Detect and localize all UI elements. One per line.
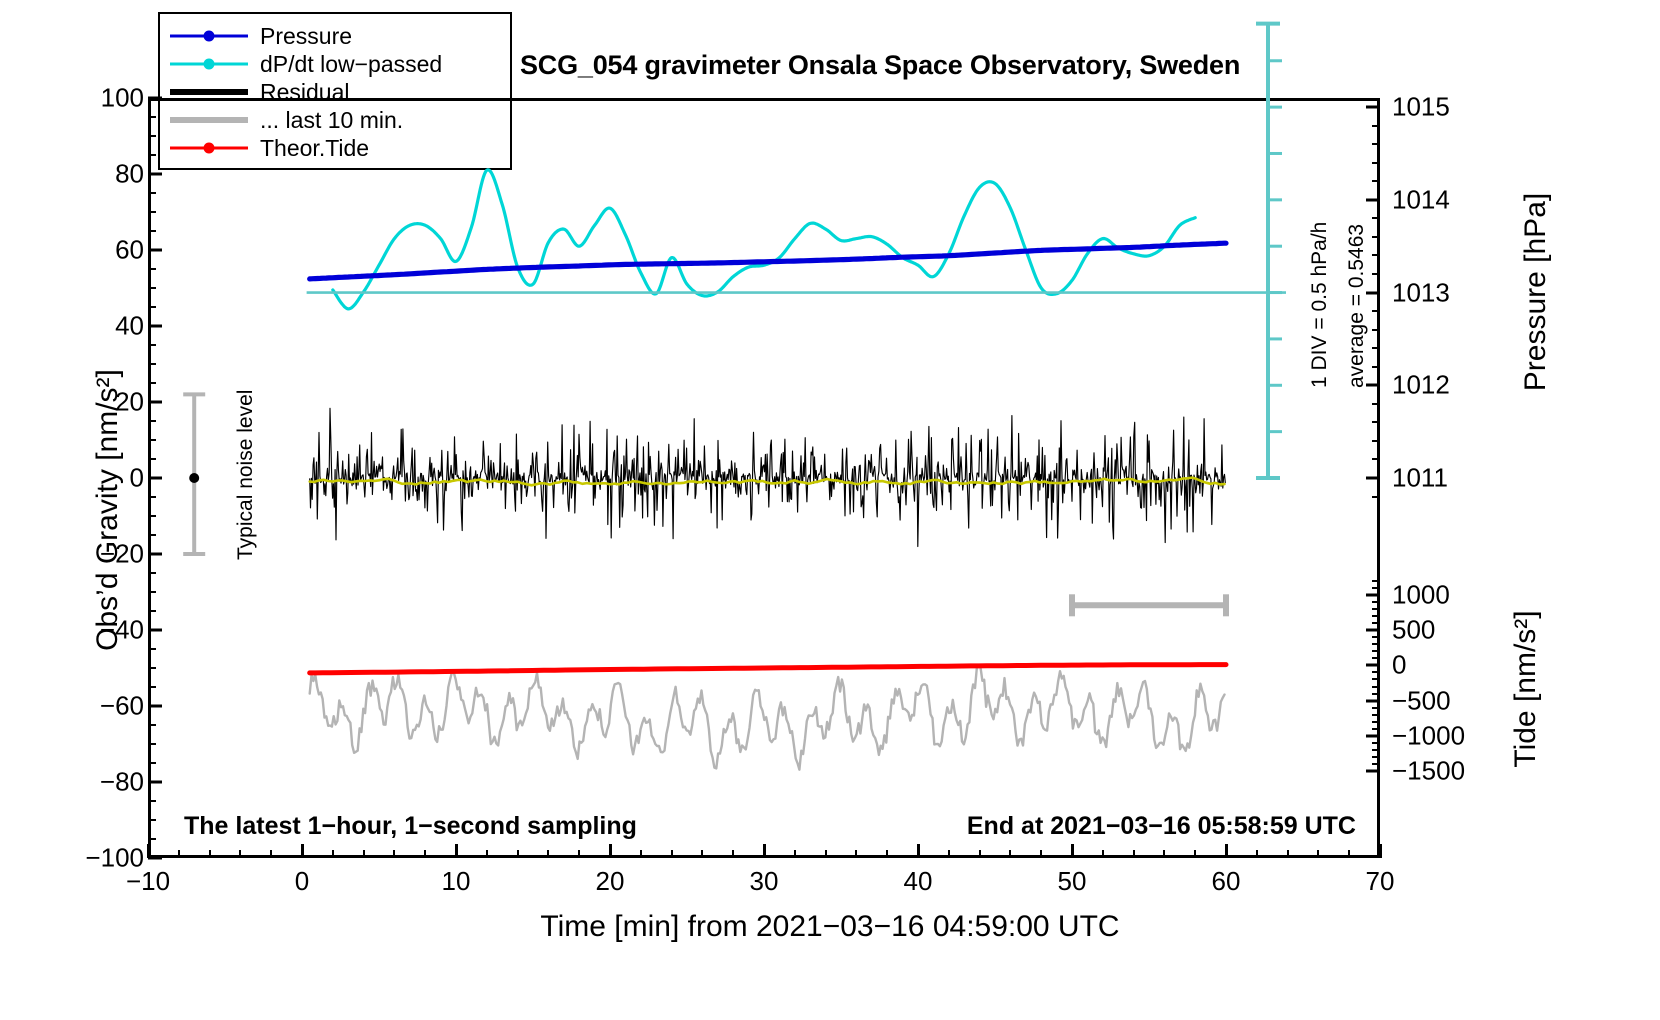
y-tick-tide-minor	[1372, 721, 1380, 723]
y-tick-left-minor	[148, 686, 156, 688]
y-tick-left	[148, 97, 162, 100]
y-tick-label-left: 60	[24, 235, 144, 266]
x-tick	[455, 844, 458, 858]
y-tick-label-left: −80	[24, 767, 144, 798]
y-tick-label-pressure: 1014	[1392, 184, 1450, 215]
y-tick-tide-minor	[1372, 742, 1380, 744]
x-tick-minor	[1163, 850, 1165, 858]
y-tick-label-tide: 0	[1392, 650, 1406, 681]
y-tick-tide-minor	[1372, 693, 1380, 695]
y-tick-pressure-minor	[1372, 180, 1380, 182]
x-tick-minor	[393, 850, 395, 858]
y-tick-left	[148, 781, 162, 784]
y-tick-left-minor	[148, 154, 156, 156]
x-tick-minor	[671, 850, 673, 858]
x-tick-label: 20	[596, 866, 625, 897]
y-tick-left-minor	[148, 344, 156, 346]
x-tick-label: 60	[1212, 866, 1241, 897]
x-tick	[1071, 844, 1074, 858]
y-tick-left	[148, 857, 162, 860]
y-tick-tide-minor	[1372, 707, 1380, 709]
y-tick-left	[148, 401, 162, 404]
x-tick-minor	[1348, 850, 1350, 858]
x-tick	[763, 844, 766, 858]
y-tick-pressure-minor	[1372, 366, 1380, 368]
y-tick-label-left: 40	[24, 311, 144, 342]
y-tick-left-minor	[148, 287, 156, 289]
y-tick-tide-minor	[1372, 678, 1380, 680]
y-tick-tide-minor	[1372, 749, 1380, 751]
y-tick-label-left: 20	[24, 387, 144, 418]
y-tick-pressure-minor	[1372, 143, 1380, 145]
y-tick-tide-minor	[1372, 657, 1380, 659]
y-tick-left-minor	[148, 591, 156, 593]
x-tick-minor	[1256, 850, 1258, 858]
x-tick-minor	[209, 850, 211, 858]
x-tick	[301, 844, 304, 858]
y-tick-label-left: −20	[24, 539, 144, 570]
y-tick-left	[148, 477, 162, 480]
x-tick-minor	[886, 850, 888, 858]
y-tick-left-minor	[148, 420, 156, 422]
x-tick-minor	[517, 850, 519, 858]
y-tick-left-minor	[148, 819, 156, 821]
x-tick-minor	[1317, 850, 1319, 858]
y-tick-pressure-minor	[1372, 329, 1380, 331]
x-tick-minor	[948, 850, 950, 858]
y-tick-tide-minor	[1372, 728, 1380, 730]
x-tick-minor	[270, 850, 272, 858]
y-tick-pressure-minor	[1372, 273, 1380, 275]
y-tick-left	[148, 553, 162, 556]
y-tick-pressure	[1366, 291, 1380, 294]
x-tick-minor	[1009, 850, 1011, 858]
bottom-right-note: End at 2021−03−16 05:58:59 UTC	[0, 812, 1356, 841]
y-tick-tide-minor	[1372, 756, 1380, 758]
y-tick-left-minor	[148, 211, 156, 213]
x-tick-label: 70	[1366, 866, 1395, 897]
x-tick-minor	[239, 850, 241, 858]
y-tick-left-minor	[148, 743, 156, 745]
y-tick-left-minor	[148, 306, 156, 308]
x-tick-minor	[332, 850, 334, 858]
y-tick-left-minor	[148, 838, 156, 840]
curve-theor-tide	[310, 665, 1226, 673]
y-tick-label-left: 80	[24, 159, 144, 190]
y-tick-pressure-minor	[1372, 125, 1380, 127]
x-tick-minor	[640, 850, 642, 858]
y-tick-label-tide: 500	[1392, 615, 1435, 646]
last-10-min-extent-bar	[1072, 594, 1226, 616]
x-tick-minor	[1133, 850, 1135, 858]
x-tick-label: 50	[1058, 866, 1087, 897]
y-tick-pressure-minor	[1372, 347, 1380, 349]
y-tick-pressure-minor	[1372, 254, 1380, 256]
y-tick-tide	[1366, 593, 1380, 596]
x-tick-minor	[424, 850, 426, 858]
x-tick	[609, 844, 612, 858]
y-tick-label-pressure: 1013	[1392, 277, 1450, 308]
y-tick-tide-minor	[1372, 714, 1380, 716]
y-tick-pressure-minor	[1372, 310, 1380, 312]
y-tick-left-minor	[148, 724, 156, 726]
y-tick-pressure	[1366, 477, 1380, 480]
y-tick-left	[148, 629, 162, 632]
x-tick-label: 0	[295, 866, 309, 897]
gravimeter-plot: SCG_054 gravimeter Onsala Space Observat…	[0, 0, 1660, 1020]
x-tick-minor	[979, 850, 981, 858]
x-tick-minor	[1194, 850, 1196, 858]
y-tick-left-minor	[148, 534, 156, 536]
x-tick-minor	[1040, 850, 1042, 858]
x-tick-label: 40	[904, 866, 933, 897]
y-tick-left-minor	[148, 610, 156, 612]
x-tick-label: −10	[126, 866, 170, 897]
y-tick-tide	[1366, 699, 1380, 702]
y-tick-label-pressure: 1015	[1392, 92, 1450, 123]
y-tick-tide-minor	[1372, 601, 1380, 603]
curve-residual	[310, 408, 1226, 546]
typical-noise-level-errorbar	[183, 394, 205, 554]
y-tick-pressure	[1366, 106, 1380, 109]
y-tick-left-minor	[148, 363, 156, 365]
y-tick-left	[148, 173, 162, 176]
x-tick-minor	[1287, 850, 1289, 858]
y-tick-left-minor	[148, 268, 156, 270]
y-tick-left-minor	[148, 116, 156, 118]
y-tick-tide-minor	[1372, 686, 1380, 688]
y-tick-tide	[1366, 629, 1380, 632]
y-tick-tide-minor	[1372, 580, 1380, 582]
y-tick-tide-minor	[1372, 763, 1380, 765]
y-tick-tide-minor	[1372, 671, 1380, 673]
y-tick-left-minor	[148, 135, 156, 137]
y-tick-pressure-minor	[1372, 162, 1380, 164]
y-tick-label-pressure: 1011	[1392, 463, 1448, 494]
y-tick-tide-minor	[1372, 608, 1380, 610]
y-tick-left-minor	[148, 648, 156, 650]
y-tick-tide-minor	[1372, 643, 1380, 645]
y-tick-tide	[1366, 664, 1380, 667]
x-tick-minor	[701, 850, 703, 858]
y-tick-tide	[1366, 770, 1380, 773]
y-tick-left-minor	[148, 496, 156, 498]
y-tick-pressure-minor	[1372, 236, 1380, 238]
y-tick-left-minor	[148, 800, 156, 802]
y-tick-pressure-minor	[1372, 403, 1380, 405]
x-tick-label: 30	[750, 866, 779, 897]
y-tick-tide-minor	[1372, 615, 1380, 617]
y-tick-pressure-minor	[1372, 458, 1380, 460]
y-tick-pressure-minor	[1372, 217, 1380, 219]
y-tick-label-tide: −1500	[1392, 756, 1465, 787]
y-tick-label-left: −60	[24, 691, 144, 722]
y-tick-label-left: 100	[24, 83, 144, 114]
y-tick-tide-minor	[1372, 650, 1380, 652]
noise-level-note: Typical noise level	[234, 390, 258, 560]
x-tick-minor	[732, 850, 734, 858]
curve-last-10-min	[310, 666, 1225, 770]
y-tick-label-tide: 1000	[1392, 579, 1450, 610]
y-tick-left-minor	[148, 382, 156, 384]
x-tick-minor	[178, 850, 180, 858]
y-tick-label-tide: −500	[1392, 685, 1451, 716]
y-tick-tide-minor	[1372, 622, 1380, 624]
x-tick-minor	[363, 850, 365, 858]
curve-dpdt	[333, 170, 1195, 309]
x-tick	[1225, 844, 1228, 858]
x-tick-minor	[486, 850, 488, 858]
y-tick-left	[148, 705, 162, 708]
y-tick-left-minor	[148, 458, 156, 460]
y-tick-left-minor	[148, 439, 156, 441]
y-tick-pressure-minor	[1372, 440, 1380, 442]
x-tick-minor	[1102, 850, 1104, 858]
dpdt-scale-bar	[307, 24, 1286, 478]
y-tick-tide-minor	[1372, 636, 1380, 638]
y-tick-left-minor	[148, 230, 156, 232]
y-tick-pressure-minor	[1372, 496, 1380, 498]
y-tick-label-tide: −1000	[1392, 721, 1465, 752]
y-tick-tide	[1366, 735, 1380, 738]
x-tick-minor	[855, 850, 857, 858]
y-tick-label-left: 0	[24, 463, 144, 494]
average-note: average = 0.5463	[1345, 224, 1369, 388]
y-tick-left-minor	[148, 515, 156, 517]
y-tick-tide-minor	[1372, 587, 1380, 589]
x-tick-minor	[547, 850, 549, 858]
x-tick-minor	[578, 850, 580, 858]
y-tick-left-minor	[148, 667, 156, 669]
x-tick-label: 10	[442, 866, 471, 897]
x-tick	[917, 844, 920, 858]
x-tick-minor	[825, 850, 827, 858]
y-tick-pressure	[1366, 198, 1380, 201]
x-tick	[1379, 844, 1382, 858]
x-tick-minor	[794, 850, 796, 858]
y-tick-left-minor	[148, 762, 156, 764]
div-scale-note: 1 DIV = 0.5 hPa/h	[1308, 222, 1332, 388]
y-tick-pressure	[1366, 384, 1380, 387]
x-tick	[147, 844, 150, 858]
y-tick-left-minor	[148, 572, 156, 574]
y-tick-label-left: −40	[24, 615, 144, 646]
y-tick-left	[148, 249, 162, 252]
y-tick-left	[148, 325, 162, 328]
y-tick-left-minor	[148, 192, 156, 194]
y-tick-label-pressure: 1012	[1392, 370, 1450, 401]
y-tick-pressure-minor	[1372, 421, 1380, 423]
